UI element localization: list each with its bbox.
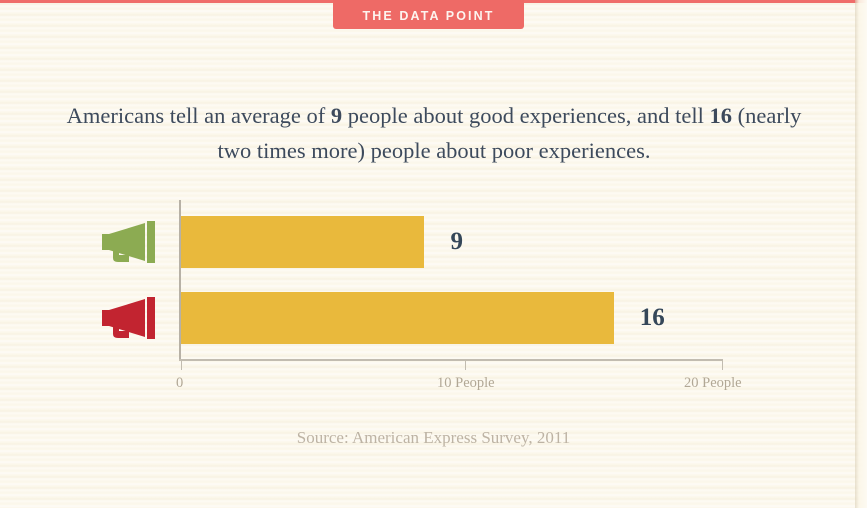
infographic-page: THE DATA POINT Americans tell an average… <box>0 0 867 508</box>
bar-label-good-experiences: 9 <box>450 228 463 256</box>
page-right-edge <box>855 0 867 508</box>
bar-poor-experiences <box>181 292 614 344</box>
bar-label-poor-experiences: 16 <box>640 304 665 332</box>
x-axis-tick-label-20: 20 People <box>684 375 742 392</box>
x-axis-tick-20 <box>722 361 723 370</box>
x-axis-tick-label-0: 0 <box>176 375 183 392</box>
x-axis-line <box>179 359 723 361</box>
source-attribution: Source: American Express Survey, 2011 <box>0 428 867 448</box>
megaphone-icon-green <box>99 218 161 266</box>
x-axis-tick-label-10: 10 People <box>437 375 495 392</box>
x-axis-tick-0 <box>181 361 182 370</box>
x-axis-tick-10 <box>465 361 466 370</box>
bar-good-experiences <box>181 216 424 268</box>
megaphone-icon-red <box>99 294 161 342</box>
